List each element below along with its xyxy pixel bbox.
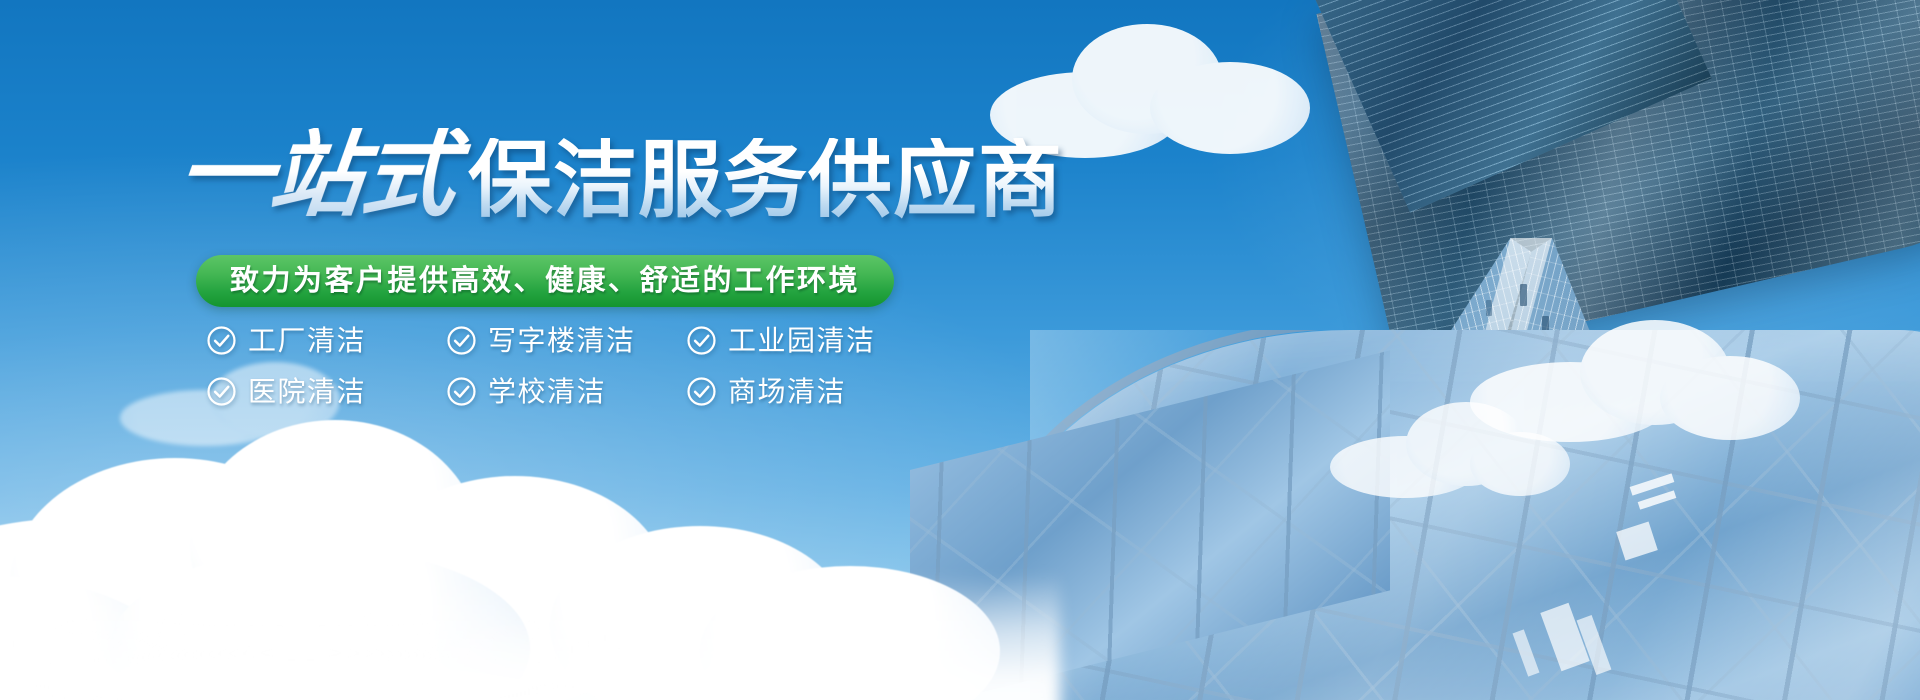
building-imagery <box>940 0 1920 700</box>
subtitle-pill: 致力为客户提供高效、健康、舒适的工作环境 <box>196 255 894 307</box>
banner-content: 一站式 保洁服务供应商 致力为客户提供高效、健康、舒适的工作环境 工厂清洁 <box>0 0 1000 700</box>
feature-item-school[interactable]: 学校清洁 <box>446 376 686 407</box>
check-circle-icon <box>446 325 477 356</box>
feature-label: 学校清洁 <box>488 378 606 406</box>
feature-item-factory[interactable]: 工厂清洁 <box>206 325 446 356</box>
feature-label: 工业园清洁 <box>728 327 876 355</box>
headline: 一站式 保洁服务供应商 <box>178 118 1063 222</box>
feature-item-office-building[interactable]: 写字楼清洁 <box>446 325 686 356</box>
feature-item-industrial-park[interactable]: 工业园清洁 <box>686 325 926 356</box>
dark-glass-tower-secondary <box>1309 0 1712 213</box>
feature-row: 医院清洁 学校清洁 <box>206 376 926 407</box>
glass-canopy <box>1030 330 1920 700</box>
feature-label: 医院清洁 <box>248 378 366 406</box>
cloud-right-lower <box>1330 392 1570 502</box>
feature-list: 工厂清洁 写字楼清洁 <box>206 325 926 427</box>
check-circle-icon <box>206 325 237 356</box>
cloud-mid-right <box>1470 300 1800 450</box>
check-circle-icon <box>686 325 717 356</box>
check-circle-icon <box>686 376 717 407</box>
subtitle-text: 致力为客户提供高效、健康、舒适的工作环境 <box>230 267 860 296</box>
check-circle-icon <box>446 376 477 407</box>
hero-banner: 一站式 保洁服务供应商 致力为客户提供高效、健康、舒适的工作环境 工厂清洁 <box>0 0 1920 700</box>
feature-label: 写字楼清洁 <box>488 327 636 355</box>
headline-brush-text: 一站式 <box>173 128 473 222</box>
feature-item-shopping-mall[interactable]: 商场清洁 <box>686 376 926 407</box>
feature-item-hospital[interactable]: 医院清洁 <box>206 376 446 407</box>
central-skyscraper <box>1240 238 1760 700</box>
check-circle-icon <box>206 376 237 407</box>
dark-glass-tower <box>1316 0 1920 365</box>
feature-label: 商场清洁 <box>728 378 846 406</box>
feature-label: 工厂清洁 <box>248 327 366 355</box>
headline-main-text: 保洁服务供应商 <box>468 138 1063 222</box>
feature-row: 工厂清洁 写字楼清洁 <box>206 325 926 356</box>
sky-glow-secondary <box>1140 0 1920 460</box>
